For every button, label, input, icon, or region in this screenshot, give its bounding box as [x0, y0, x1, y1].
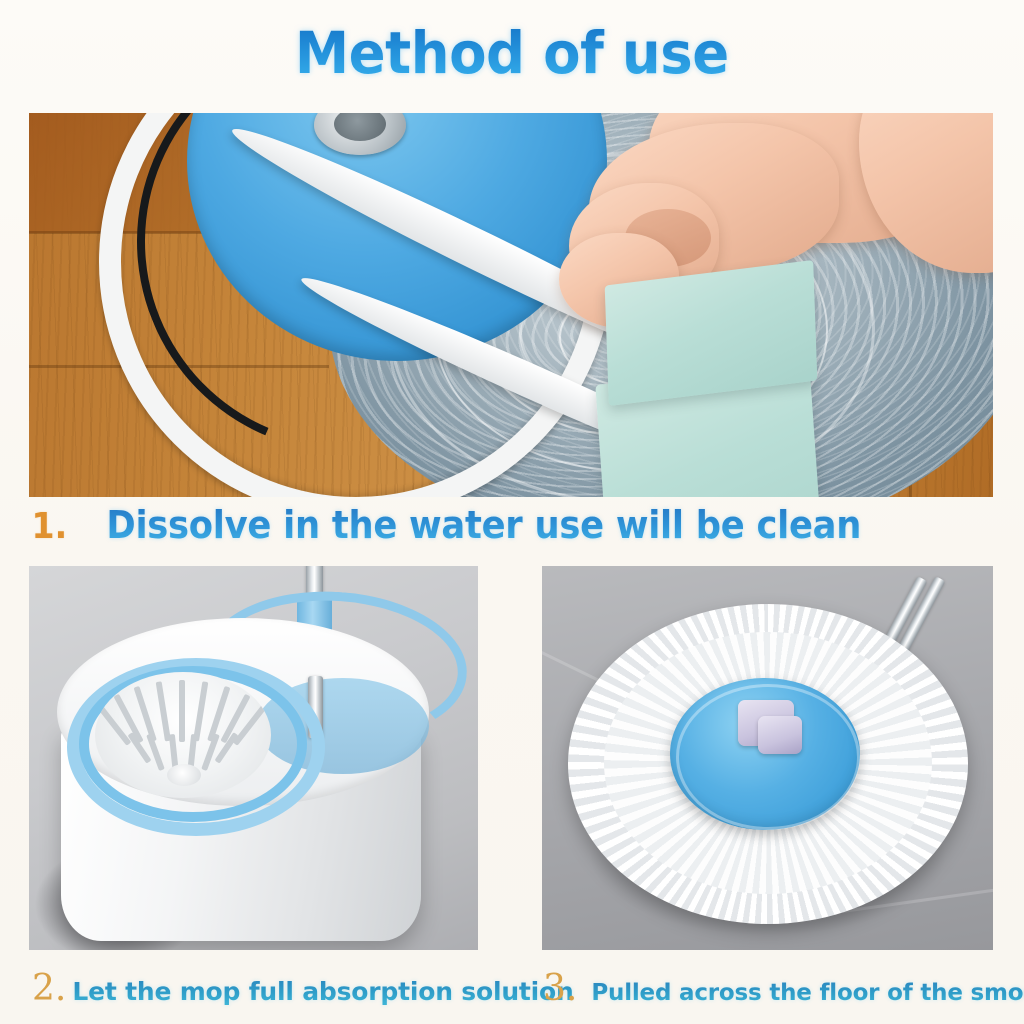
step-3-caption: 3. Pulled across the floor of the smooth… — [543, 968, 1024, 1009]
step-1-text: Dissolve in the water use will be clean — [106, 503, 861, 547]
page-title-container: Method of use — [0, 22, 1024, 84]
step-3-text: Pulled across the floor of the smooth as… — [591, 980, 1024, 1006]
step-2-text: Let the mop full absorption solution — [72, 977, 573, 1006]
step-3-number: 3. — [543, 968, 577, 1009]
step-1-caption: 1. Dissolve in the water use will be cle… — [30, 503, 889, 547]
spinner-basket — [95, 672, 271, 798]
step-1-image — [29, 113, 993, 497]
mop-head-clip-2 — [758, 716, 802, 754]
step-2-caption: 2. Let the mop full absorption solution — [32, 968, 574, 1009]
step-3-image — [542, 566, 993, 950]
step-2-image — [29, 566, 478, 950]
step-1-number: 1. — [32, 506, 68, 547]
page-title: Method of use — [295, 22, 729, 84]
step-2-number: 2. — [32, 968, 66, 1009]
dissolvable-cleaning-sheet-top — [605, 260, 818, 406]
product-instruction-infographic: Method of use — [0, 0, 1024, 1024]
